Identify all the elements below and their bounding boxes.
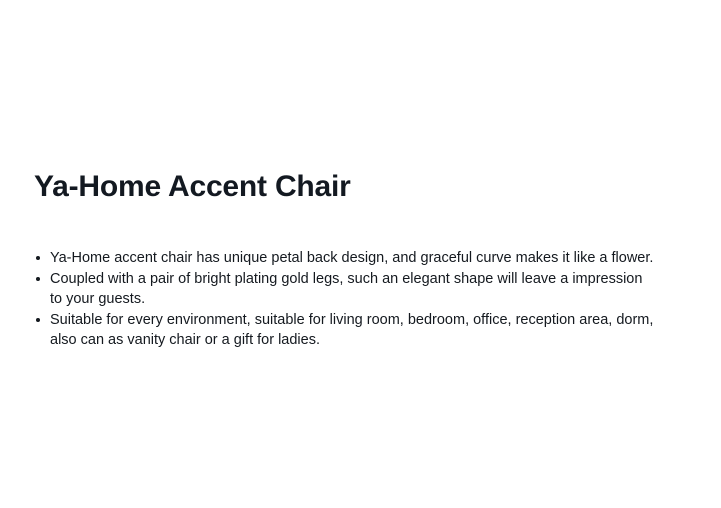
list-item: Coupled with a pair of bright plating go… [34,269,654,309]
feature-bullet-text: Coupled with a pair of bright plating go… [50,269,654,309]
bullet-disc-icon [36,277,40,281]
feature-bullet-text: Ya-Home accent chair has unique petal ba… [50,248,654,268]
bullet-disc-icon [36,256,40,260]
product-feature-list: Ya-Home accent chair has unique petal ba… [34,248,654,350]
list-item: Suitable for every environment, suitable… [34,310,654,350]
product-content-block: Ya-Home Accent Chair Ya-Home accent chai… [34,168,654,351]
product-detail-page: Ya-Home Accent Chair Ya-Home accent chai… [0,0,721,508]
feature-bullet-text: Suitable for every environment, suitable… [50,310,654,350]
list-item: Ya-Home accent chair has unique petal ba… [34,248,654,268]
page-title: Ya-Home Accent Chair [34,168,654,206]
bullet-disc-icon [36,318,40,322]
